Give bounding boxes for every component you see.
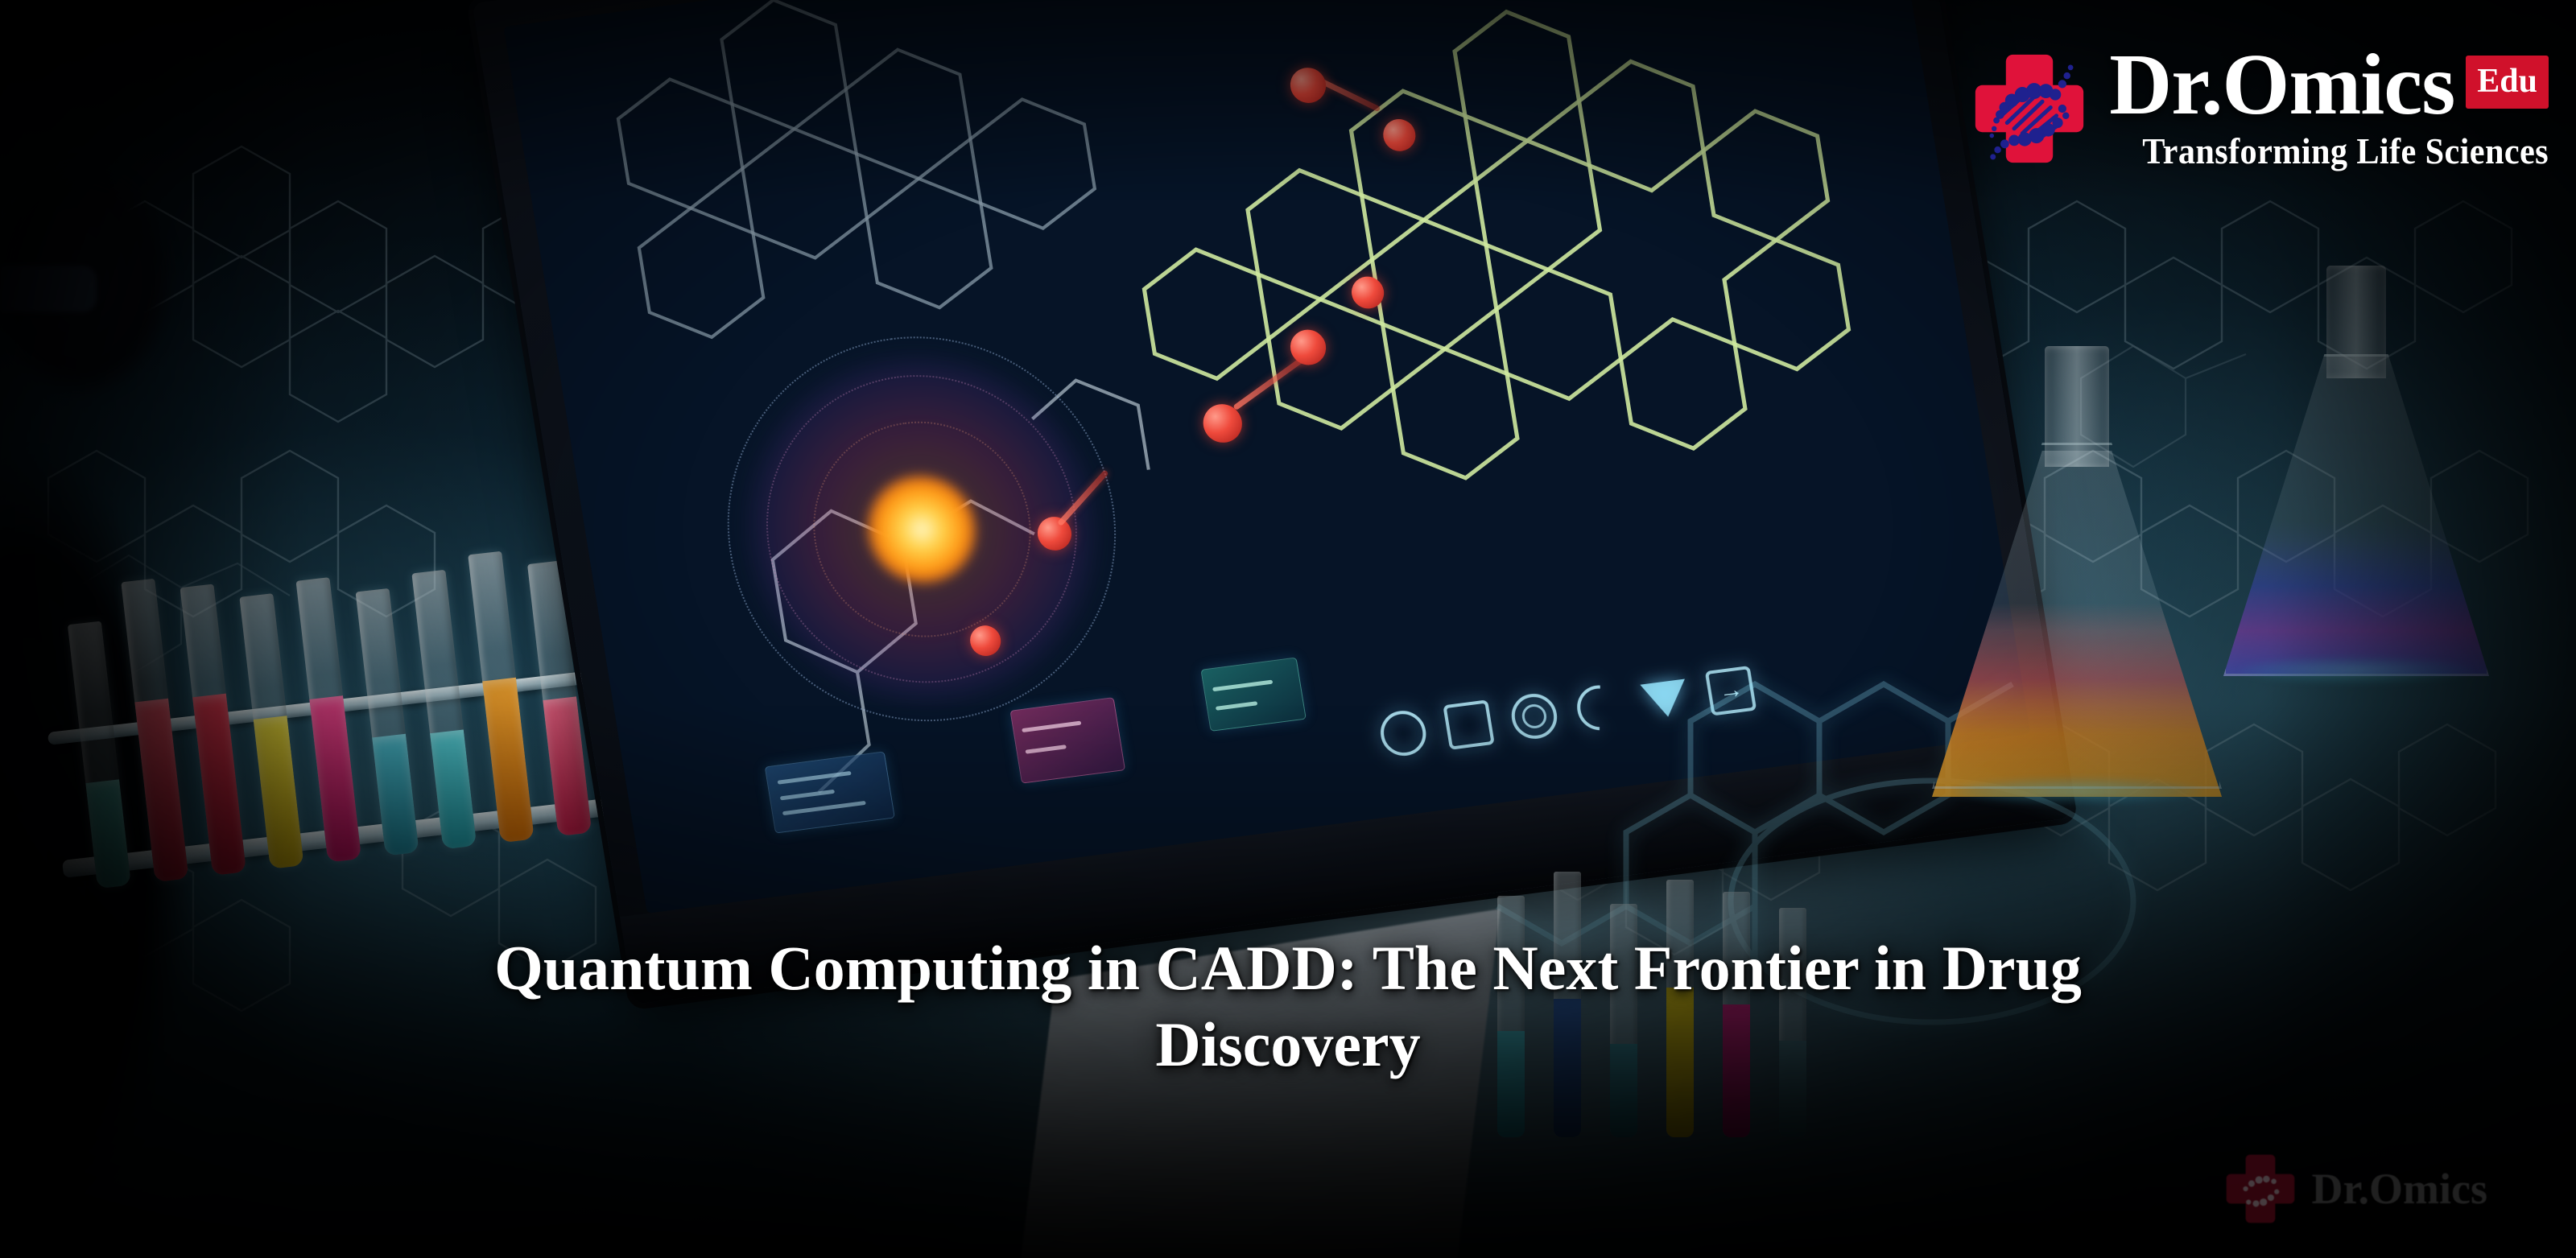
medical-cross-icon (1971, 50, 2088, 167)
medical-cross-icon (2223, 1152, 2297, 1226)
brand-tagline: Transforming Life Sciences (2142, 130, 2549, 172)
watermark-brand-name: Dr.Omics (2312, 1164, 2487, 1214)
screen-panel-card (1009, 697, 1125, 784)
flask-outline (1932, 443, 2222, 789)
test-tube (356, 588, 419, 856)
page-title: Quantum Computing in CADD: The Next Fron… (97, 930, 2479, 1083)
test-tube (411, 570, 477, 850)
brand-name: Dr.Omics (2109, 42, 2454, 129)
flask-base-glow (1950, 777, 2205, 805)
test-tube (296, 577, 362, 862)
hero-banner: Dr.Omics Edu Transforming Life Sciences … (0, 0, 2576, 1258)
title-line-2: Discovery (1155, 1009, 1420, 1079)
logo-watermark: Dr.Omics (2223, 1152, 2487, 1226)
test-tube (180, 584, 246, 876)
brand-logo[interactable]: Dr.Omics Edu Transforming Life Sciences (1971, 42, 2549, 172)
edu-badge: Edu (2466, 56, 2549, 109)
test-tube (468, 551, 534, 843)
eyeglasses (0, 266, 97, 312)
flask-outline (2223, 354, 2489, 676)
test-tube (68, 621, 131, 889)
flask-base-glow (2240, 657, 2473, 684)
screen-panel-card (1201, 658, 1307, 732)
test-tube (239, 593, 303, 869)
erlenmeyer-flask-orange (1932, 346, 2222, 797)
erlenmeyer-flask-blue (2223, 266, 2489, 676)
logo-primary-line: Dr.Omics Edu (2109, 42, 2549, 129)
energy-orb (700, 314, 1145, 745)
title-line-1: Quantum Computing in CADD: The Next Fron… (494, 933, 2082, 1003)
logo-text-block: Dr.Omics Edu Transforming Life Sciences (2109, 42, 2549, 172)
